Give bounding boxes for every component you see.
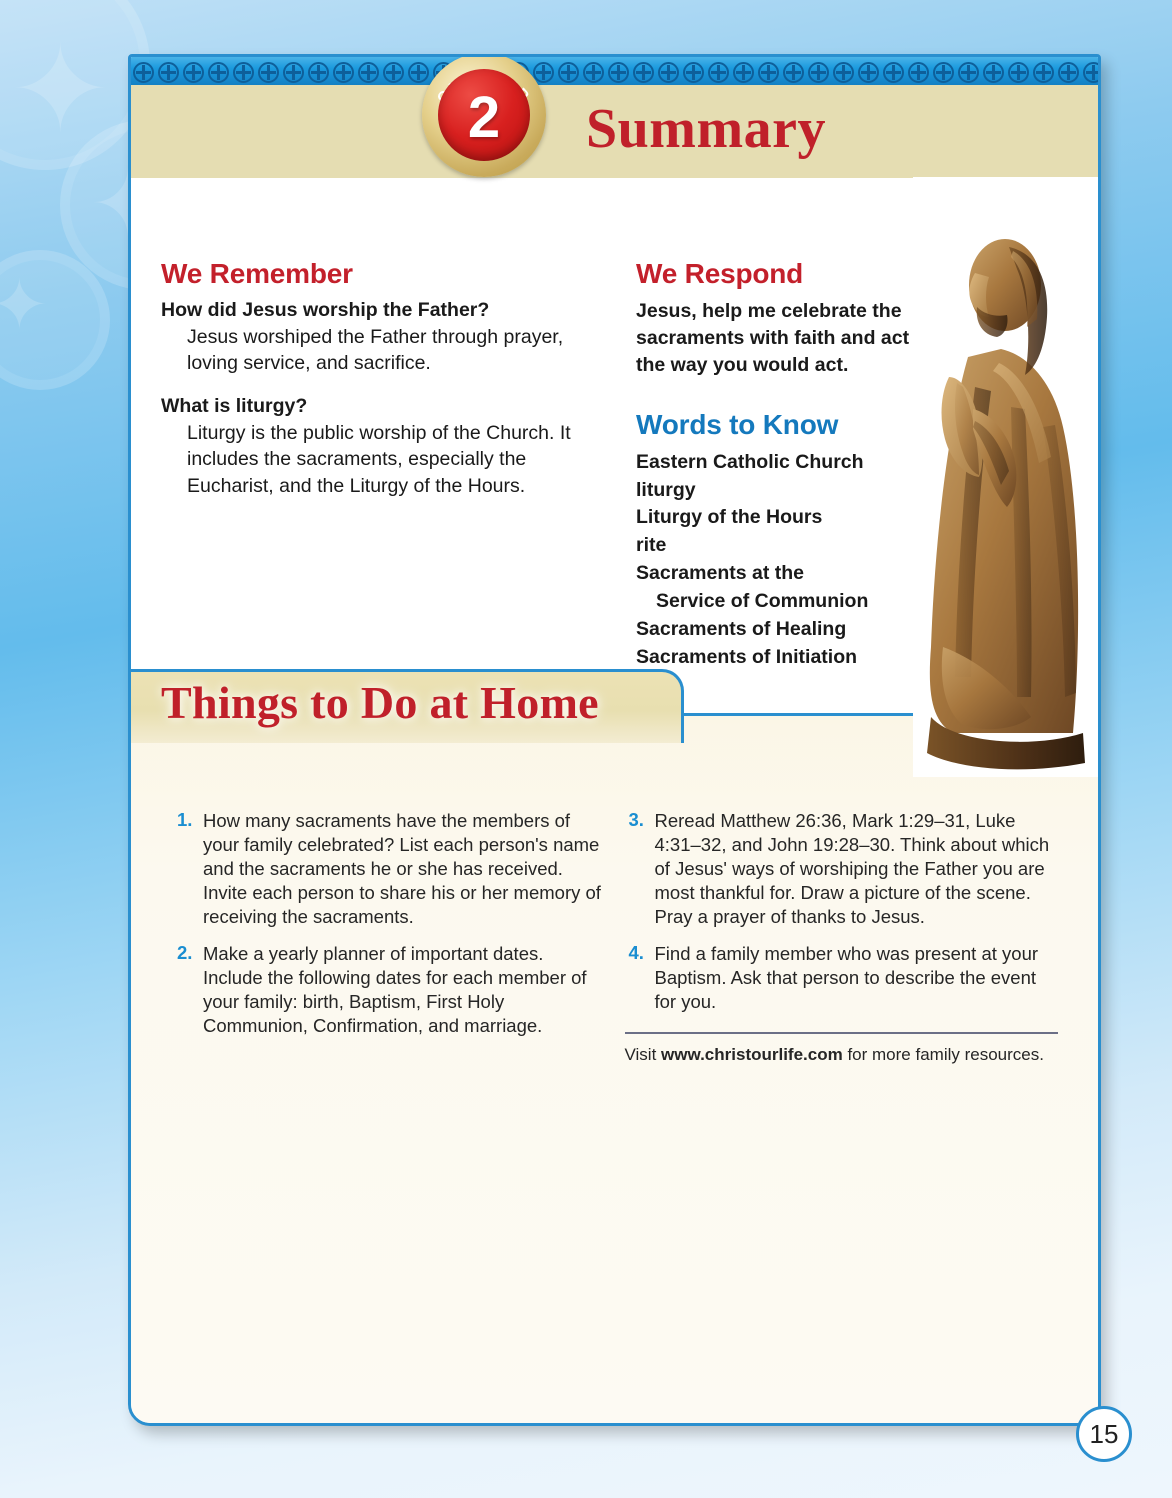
activity-number: 3. — [625, 809, 655, 929]
header-band: Summary — [131, 85, 1098, 178]
we-respond-heading: We Respond — [636, 258, 936, 290]
cross-icon — [1081, 62, 1098, 83]
cross-icon — [706, 62, 731, 83]
qa-item: How did Jesus worship the Father? Jesus … — [161, 298, 596, 377]
cross-icon — [331, 62, 356, 83]
question-text: How did Jesus worship the Father? — [161, 298, 596, 324]
cross-icon — [206, 62, 231, 83]
we-remember-section: We Remember How did Jesus worship the Fa… — [161, 258, 596, 516]
activity-text: Find a family member who was present at … — [655, 942, 1059, 1014]
cross-icon — [981, 62, 1006, 83]
cross-icon — [631, 62, 656, 83]
activity-number: 1. — [173, 809, 203, 929]
cross-icon — [231, 62, 256, 83]
activity-number: 2. — [173, 942, 203, 1038]
activity-item: 3. Reread Matthew 26:36, Mark 1:29–31, L… — [625, 809, 1059, 929]
cross-icon — [906, 62, 931, 83]
we-remember-heading: We Remember — [161, 258, 596, 290]
cross-icon — [581, 62, 606, 83]
activity-item: 1. How many sacraments have the members … — [173, 809, 607, 929]
cross-icon — [1031, 62, 1056, 83]
page-panel: Summary CHAPTER 2 We Remember How did Je… — [128, 54, 1101, 1426]
website-url[interactable]: www.christourlife.com — [661, 1045, 843, 1064]
cross-icon — [356, 62, 381, 83]
answer-text: Jesus worshiped the Father through praye… — [161, 324, 596, 377]
activities-column-right: 3. Reread Matthew 26:36, Mark 1:29–31, L… — [625, 809, 1059, 1065]
cross-icon — [856, 62, 881, 83]
we-respond-prayer: Jesus, help me celebrate the sacraments … — [636, 298, 936, 379]
things-to-do-banner: Things to Do at Home — [131, 669, 684, 743]
word-to-know-item: liturgy — [636, 477, 936, 505]
page-number-badge: 15 — [1076, 1406, 1132, 1462]
visit-prefix: Visit — [625, 1045, 662, 1064]
cross-icon — [606, 62, 631, 83]
word-to-know-item: rite — [636, 532, 936, 560]
decorative-cross-border — [131, 57, 1098, 85]
cross-icon — [256, 62, 281, 83]
word-to-know-item: Sacraments of Healing — [636, 616, 936, 644]
page-title: Summary — [586, 97, 826, 161]
activities-columns: 1. How many sacraments have the members … — [131, 809, 1098, 1065]
things-to-do-at-home-section: Things to Do at Home 1. How many sacrame… — [131, 713, 1098, 1426]
cross-icon — [881, 62, 906, 83]
activity-text: Reread Matthew 26:36, Mark 1:29–31, Luke… — [655, 809, 1059, 929]
we-respond-section: We Respond Jesus, help me celebrate the … — [636, 258, 936, 672]
cross-icon — [1006, 62, 1031, 83]
activity-item: 4. Find a family member who was present … — [625, 942, 1059, 1014]
cross-icon — [1056, 62, 1081, 83]
cross-icon — [731, 62, 756, 83]
words-to-know-list: Eastern Catholic ChurchliturgyLiturgy of… — [636, 449, 936, 672]
things-to-do-title: Things to Do at Home — [161, 676, 599, 729]
activity-text: How many sacraments have the members of … — [203, 809, 607, 929]
cross-icon — [656, 62, 681, 83]
chapter-number: 2 — [438, 69, 530, 161]
cross-icon — [381, 62, 406, 83]
word-to-know-item: Sacraments at the — [636, 560, 936, 588]
cross-icon — [756, 62, 781, 83]
chapter-badge: CHAPTER 2 — [422, 54, 546, 177]
activity-item: 2. Make a yearly planner of important da… — [173, 942, 607, 1038]
cross-icon — [131, 62, 156, 83]
activity-text: Make a yearly planner of important dates… — [203, 942, 607, 1038]
activities-column-left: 1. How many sacraments have the members … — [173, 809, 607, 1065]
answer-text: Liturgy is the public worship of the Chu… — [161, 420, 596, 500]
cross-icon — [831, 62, 856, 83]
cross-icon — [681, 62, 706, 83]
cross-icon — [781, 62, 806, 83]
word-to-know-item: Service of Communion — [636, 588, 936, 616]
activity-number: 4. — [625, 942, 655, 1014]
visit-website-line: Visit www.christourlife.com for more fam… — [625, 1045, 1059, 1065]
cross-icon — [931, 62, 956, 83]
chapter-badge-disc: 2 — [438, 69, 530, 161]
visit-suffix: for more family resources. — [843, 1045, 1044, 1064]
cross-icon — [181, 62, 206, 83]
qa-item: What is liturgy? Liturgy is the public w… — [161, 394, 596, 499]
word-to-know-item: Sacraments of Initiation — [636, 644, 936, 672]
cross-icon — [281, 62, 306, 83]
cross-icon — [956, 62, 981, 83]
word-to-know-item: Liturgy of the Hours — [636, 504, 936, 532]
cross-icon — [156, 62, 181, 83]
cross-icon — [806, 62, 831, 83]
cross-icon — [306, 62, 331, 83]
cross-icon — [556, 62, 581, 83]
word-to-know-item: Eastern Catholic Church — [636, 449, 936, 477]
visit-divider — [625, 1032, 1059, 1034]
words-to-know-heading: Words to Know — [636, 409, 936, 441]
jesus-praying-statue-image — [913, 177, 1098, 777]
question-text: What is liturgy? — [161, 394, 596, 420]
